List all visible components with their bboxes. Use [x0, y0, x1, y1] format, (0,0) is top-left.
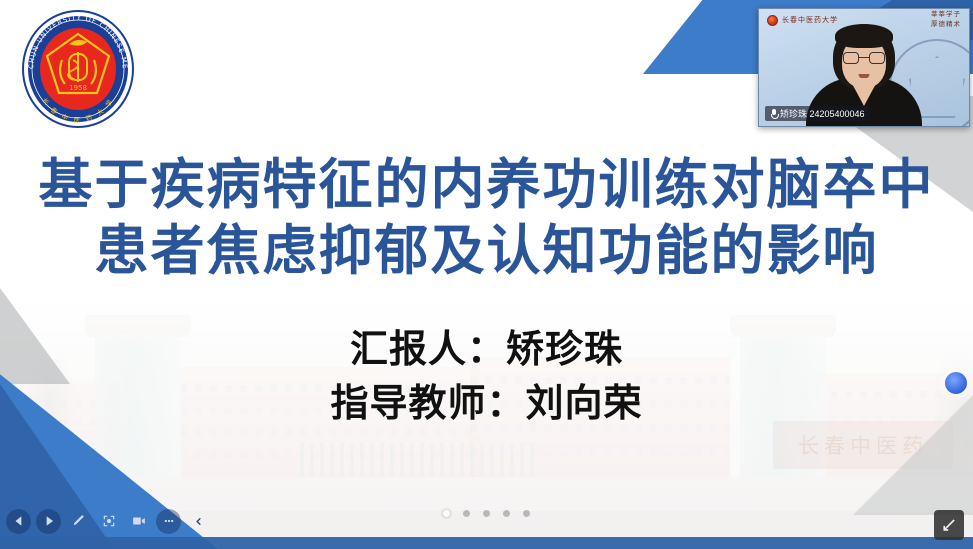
- presentation-slide-viewer: 长春中医药 CHANGCHUN UNIVERSITY OF CHINESE ME…: [0, 0, 973, 549]
- floating-action-button[interactable]: [945, 372, 967, 394]
- motto-line-2: 厚德精术: [931, 20, 961, 30]
- slide-pagination-dots: [0, 510, 973, 517]
- chevron-left-icon: [193, 516, 204, 527]
- slide-title: 基于疾病特征的内养功训练对脑卒中 患者焦虑抑郁及认知功能的影响: [0, 152, 973, 284]
- pagination-dot-3[interactable]: [483, 510, 490, 517]
- microphone-icon: [770, 109, 777, 118]
- advisor-name-line: 指导教师：刘向荣: [0, 376, 973, 430]
- video-background-motto: 莘莘学子 厚德精术: [931, 10, 961, 30]
- university-seal-icon: [767, 15, 778, 26]
- slide-title-line-1: 基于疾病特征的内养功训练对脑卒中: [0, 152, 973, 218]
- participant-glasses: [843, 52, 885, 64]
- participant-bangs: [835, 24, 893, 48]
- university-emblem-logo: CHANGCHUN UNIVERSITY OF CHINESE MEDICINE…: [13, 8, 143, 130]
- participant-name-label: 矫珍珠 24205400046: [765, 106, 870, 121]
- pagination-dot-4[interactable]: [503, 510, 510, 517]
- presentation-toolbar: [0, 502, 200, 540]
- participant-video-tile[interactable]: 长春中医药大学 莘莘学子 厚德精术 矫珍珠 24205400046: [758, 8, 970, 127]
- resize-handle[interactable]: [934, 510, 964, 540]
- pagination-dot-5[interactable]: [523, 510, 530, 517]
- presenter-name-line: 汇报人：矫珍珠: [0, 322, 973, 376]
- diagonal-resize-icon: [940, 516, 958, 534]
- svg-text:1958: 1958: [69, 84, 87, 92]
- pagination-dot-2[interactable]: [463, 510, 470, 517]
- slide-title-line-2: 患者焦虑抑郁及认知功能的影响: [0, 218, 973, 284]
- presenter-info: 汇报人：矫珍珠 指导教师：刘向荣: [0, 322, 973, 430]
- motto-line-1: 莘莘学子: [931, 10, 961, 20]
- pagination-dot-1[interactable]: [443, 510, 450, 517]
- participant-name-text: 矫珍珠 24205400046: [780, 107, 865, 120]
